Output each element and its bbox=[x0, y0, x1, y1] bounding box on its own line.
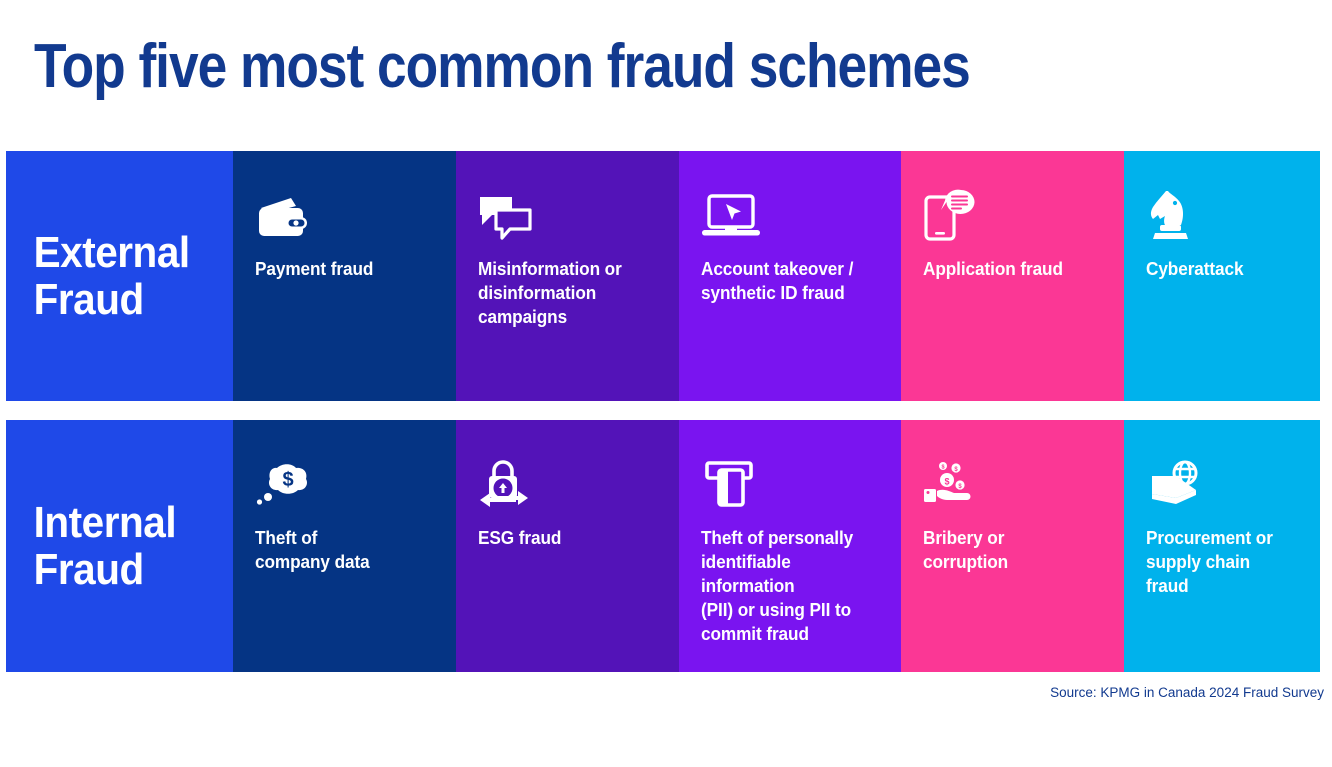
chess-knight-icon bbox=[1146, 185, 1298, 241]
smartphone-message-icon bbox=[923, 185, 1102, 241]
item-label-theft-company-data: Theft of company data bbox=[255, 526, 421, 574]
category-cell-internal-fraud: Internal Fraud bbox=[6, 420, 233, 672]
cell-account-takeover[interactable]: Account takeover / synthetic ID fraud bbox=[679, 151, 901, 401]
cell-cyberattack[interactable]: Cyberattack bbox=[1124, 151, 1320, 401]
item-label-procurement-supply-chain: Procurement or supply chain fraud bbox=[1146, 526, 1287, 598]
svg-text:$: $ bbox=[944, 477, 949, 487]
infographic-page: Top five most common fraud schemes Exter… bbox=[0, 0, 1332, 767]
svg-text:$: $ bbox=[941, 465, 944, 471]
card-slot-icon bbox=[701, 454, 879, 510]
item-label-cyberattack: Cyberattack bbox=[1146, 257, 1287, 281]
cell-esg-fraud[interactable]: ESG fraud bbox=[456, 420, 679, 672]
cell-theft-pii[interactable]: Theft of personally identifiable informa… bbox=[679, 420, 901, 672]
thought-bubble-dollar-icon: $ bbox=[255, 454, 434, 510]
svg-text:$: $ bbox=[282, 469, 293, 491]
cell-theft-company-data[interactable]: $ Theft of company data bbox=[233, 420, 456, 672]
cell-misinformation[interactable]: Misinformation or disinformation campaig… bbox=[456, 151, 679, 401]
source-note: Source: KPMG in Canada 2024 Fraud Survey bbox=[1050, 685, 1324, 700]
cell-bribery-corruption[interactable]: $ $ $ $ Bribery or corruption bbox=[901, 420, 1124, 672]
item-label-account-takeover: Account takeover / synthetic ID fraud bbox=[701, 257, 867, 305]
item-label-misinformation: Misinformation or disinformation campaig… bbox=[478, 257, 644, 329]
item-label-esg-fraud: ESG fraud bbox=[478, 526, 644, 550]
speech-bubbles-icon bbox=[478, 185, 657, 241]
category-cell-external-fraud: External Fraud bbox=[6, 151, 233, 401]
row-internal-fraud: Internal Fraud $ Theft of company data bbox=[6, 420, 1320, 672]
cell-application-fraud[interactable]: Application fraud bbox=[901, 151, 1124, 401]
row-external-fraud: External Fraud Payment fraud bbox=[6, 151, 1320, 401]
item-label-payment-fraud: Payment fraud bbox=[255, 257, 421, 281]
laptop-cursor-icon bbox=[701, 185, 879, 241]
hand-coins-icon: $ $ $ $ bbox=[923, 454, 1102, 510]
item-label-application-fraud: Application fraud bbox=[923, 257, 1089, 281]
category-label-internal-fraud: Internal Fraud bbox=[6, 499, 215, 593]
cell-procurement-supply-chain[interactable]: Procurement or supply chain fraud bbox=[1124, 420, 1320, 672]
page-title: Top five most common fraud schemes bbox=[34, 36, 970, 98]
laptop-globe-icon bbox=[1146, 454, 1298, 510]
item-label-theft-pii: Theft of personally identifiable informa… bbox=[701, 526, 867, 646]
cell-payment-fraud[interactable]: Payment fraud bbox=[233, 151, 456, 401]
padlock-exchange-icon bbox=[478, 454, 657, 510]
category-label-external-fraud: External Fraud bbox=[6, 229, 215, 323]
wallet-icon bbox=[255, 185, 434, 241]
item-label-bribery-corruption: Bribery or corruption bbox=[923, 526, 1089, 574]
